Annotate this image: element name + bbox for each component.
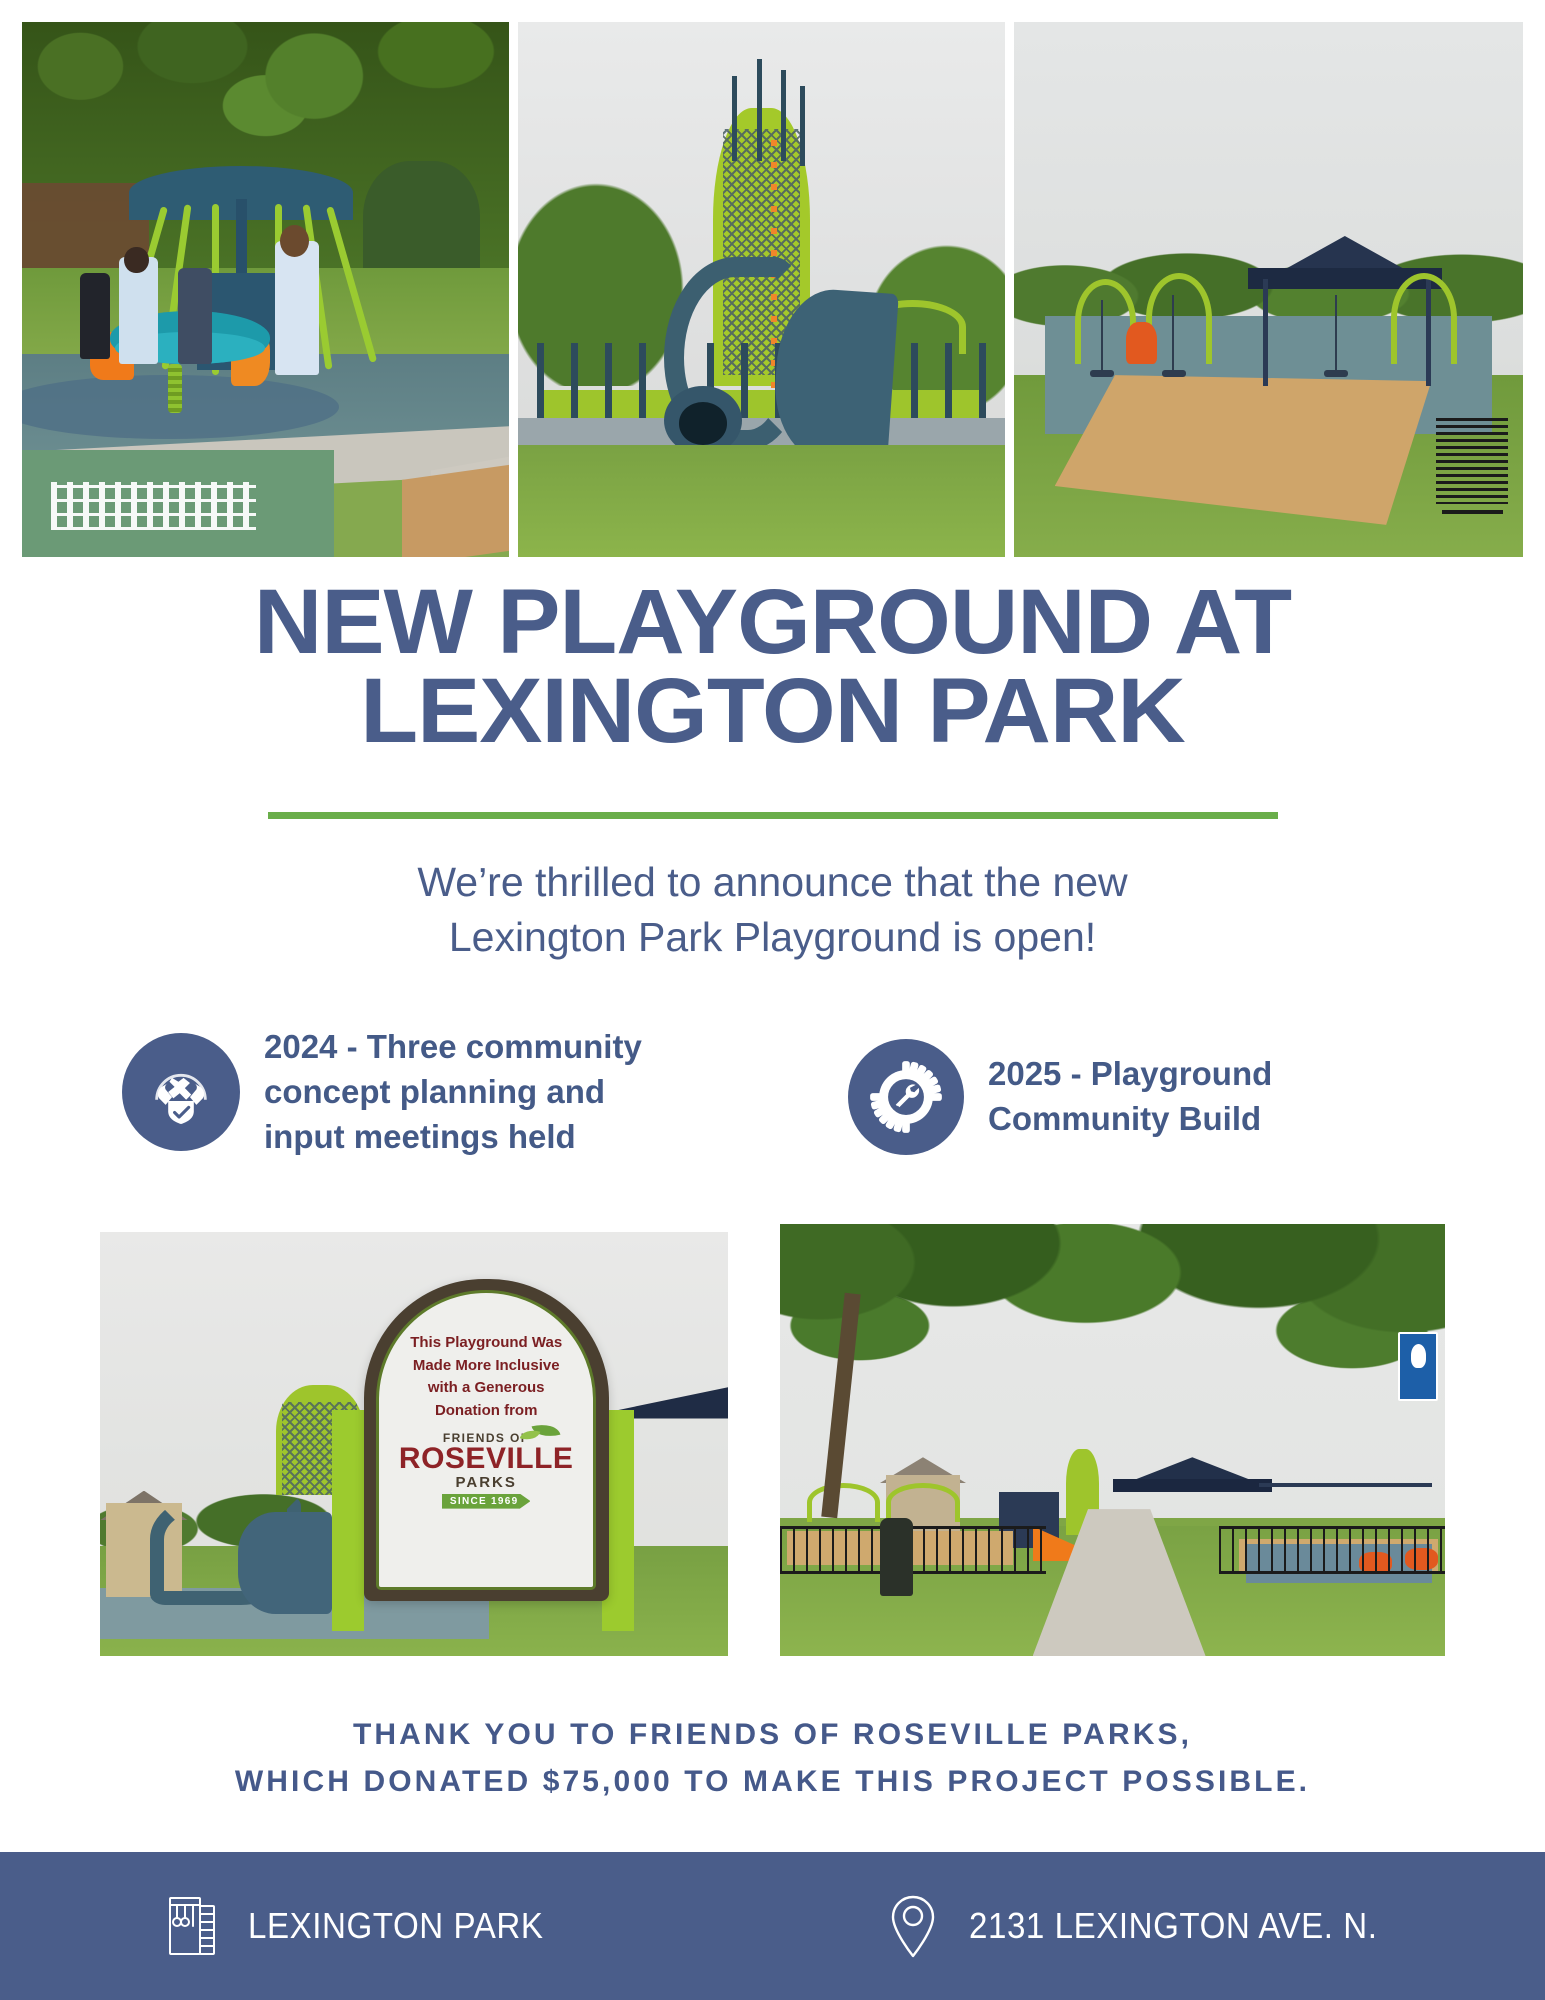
milestone-2024-line-3: input meetings held [264,1115,642,1160]
sign-line-2: Made More Inclusive [413,1355,560,1378]
milestone-2025-label: 2025 - Playground Community Build [988,1052,1272,1142]
accessible-parking-sign [1398,1332,1438,1401]
gear-wrench-icon [848,1039,964,1155]
subtitle-line-1: We’re thrilled to announce that the new [0,855,1545,910]
thank-you-line-2: WHICH DONATED $75,000 TO MAKE THIS PROJE… [0,1759,1545,1806]
sign-line-1: This Playground Was [410,1332,562,1355]
logo-roseville: ROSEVILLE [399,1445,574,1474]
top-photo-collage [22,22,1523,557]
footer-bar: LEXINGTON PARK 2131 LEXINGTON AVE. N. [0,1852,1545,2000]
playground-swingset-icon [160,1890,224,1962]
kids-on-spinner-photo [22,22,509,557]
footer-park-name: LEXINGTON PARK [160,1890,569,1962]
footer-park-label: LEXINGTON PARK [248,1905,543,1947]
thank-you-message: THANK YOU TO FRIENDS OF ROSEVILLE PARKS,… [0,1712,1545,1805]
park-pathway-photo [780,1224,1445,1656]
donor-sign-photo: This Playground Was Made More Inclusive … [100,1232,728,1656]
logo-parks: PARKS [399,1474,574,1491]
milestone-2025-line-1: 2025 - Playground [988,1052,1272,1097]
green-divider [268,812,1278,819]
milestone-list: 2024 - Three community concept planning … [0,1025,1545,1175]
handshake-shield-icon [122,1033,240,1151]
sign-line-3: with a Generous [428,1377,545,1400]
tube-slide-tower-photo [518,22,1005,557]
shade-canopy-swings-photo [1014,22,1523,557]
headline-line-2: LEXINGTON PARK [0,667,1545,756]
donor-recognition-sign: This Playground Was Made More Inclusive … [364,1279,609,1601]
headline-line-1: NEW PLAYGROUND AT [254,571,1291,673]
milestone-2025-line-2: Community Build [988,1097,1272,1142]
thank-you-line-1: THANK YOU TO FRIENDS OF ROSEVILLE PARKS, [0,1712,1545,1759]
map-pin-icon [881,1890,945,1962]
sign-line-4: Donation from [435,1400,538,1423]
friends-of-roseville-parks-logo: FRIENDS OF ROSEVILLE PARKS SINCE 1969 [399,1431,574,1509]
footer-address-label: 2131 LEXINGTON AVE. N. [969,1905,1378,1947]
subtitle: We’re thrilled to announce that the new … [0,855,1545,964]
subtitle-line-2: Lexington Park Playground is open! [0,910,1545,965]
milestone-2024-line-2: concept planning and [264,1070,642,1115]
bottom-photo-row: This Playground Was Made More Inclusive … [0,1232,1545,1667]
milestone-2024-line-1: 2024 - Three community [264,1025,642,1070]
milestone-2025: 2025 - Playground Community Build [848,1039,1272,1155]
milestone-2024: 2024 - Three community concept planning … [122,1025,642,1160]
logo-since-badge: SINCE 1969 [442,1494,531,1509]
page-title: NEW PLAYGROUND AT LEXINGTON PARK [0,578,1545,756]
milestone-2024-label: 2024 - Three community concept planning … [264,1025,642,1160]
footer-address: 2131 LEXINGTON AVE. N. [881,1890,1413,1962]
sign-post-left [332,1410,363,1630]
